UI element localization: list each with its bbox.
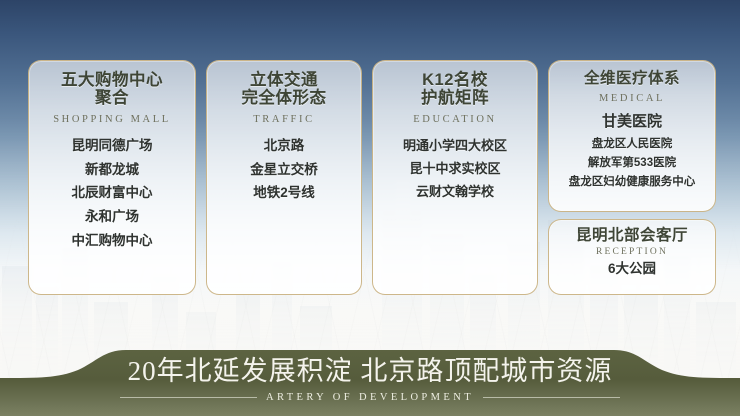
card-reception: 昆明北部会客厅 RECEPTION 6大公园 bbox=[548, 219, 716, 295]
list-item: 6大公园 bbox=[549, 261, 715, 278]
bottom-banner: 20年北延发展积淀 北京路顶配城市资源 ARTERY OF DEVELOPMEN… bbox=[0, 340, 740, 416]
list-item: 盘龙区妇幼健康服务中心 bbox=[549, 175, 715, 189]
list-item: 北京路 bbox=[207, 138, 361, 155]
card-heading: 立体交通 完全体形态 bbox=[207, 71, 361, 108]
card-heading-line1: 立体交通 bbox=[207, 71, 361, 89]
list-item: 北辰财富中心 bbox=[29, 185, 195, 202]
list-item: 昆十中求实校区 bbox=[373, 161, 537, 177]
list-item: 金星立交桥 bbox=[207, 162, 361, 179]
list-item: 中汇购物中心 bbox=[29, 233, 195, 250]
list-item: 昆明同德广场 bbox=[29, 138, 195, 155]
card-item-list: 北京路 金星立交桥 地铁2号线 bbox=[207, 138, 361, 202]
list-item: 新都龙城 bbox=[29, 162, 195, 179]
card-item-list: 甘美医院 盘龙区人民医院 解放军第533医院 盘龙区妇幼健康服务中心 bbox=[549, 113, 715, 189]
card-subtitle: EDUCATION bbox=[373, 114, 537, 125]
card-subtitle: SHOPPING MALL bbox=[29, 114, 195, 125]
banner-subtitle-row: ARTERY OF DEVELOPMENT bbox=[120, 392, 620, 403]
card-heading-line1: 全维医疗体系 bbox=[549, 70, 715, 87]
card-subtitle: TRAFFIC bbox=[207, 114, 361, 125]
rule-left bbox=[120, 397, 257, 398]
list-item: 盘龙区人民医院 bbox=[549, 137, 715, 151]
card-heading: 昆明北部会客厅 bbox=[549, 227, 715, 244]
banner-subtitle: ARTERY OF DEVELOPMENT bbox=[257, 392, 483, 403]
card-item-list: 昆明同德广场 新都龙城 北辰财富中心 永和广场 中汇购物中心 bbox=[29, 138, 195, 250]
card-heading-line1: K12名校 bbox=[373, 71, 537, 89]
card-medical: 全维医疗体系 MEDICAL 甘美医院 盘龙区人民医院 解放军第533医院 盘龙… bbox=[548, 60, 716, 212]
card-heading: 五大购物中心 聚合 bbox=[29, 71, 195, 108]
card-item-list: 6大公园 bbox=[549, 261, 715, 278]
banner-title: 20年北延发展积淀 北京路顶配城市资源 bbox=[128, 358, 613, 385]
card-traffic: 立体交通 完全体形态 TRAFFIC 北京路 金星立交桥 地铁2号线 bbox=[206, 60, 362, 295]
card-heading: 全维医疗体系 bbox=[549, 70, 715, 87]
list-item: 地铁2号线 bbox=[207, 185, 361, 202]
card-heading-line1: 五大购物中心 bbox=[29, 71, 195, 89]
card-subtitle: MEDICAL bbox=[549, 93, 715, 104]
list-item: 明通小学四大校区 bbox=[373, 138, 537, 154]
card-item-list: 明通小学四大校区 昆十中求实校区 云财文翰学校 bbox=[373, 138, 537, 200]
rule-right bbox=[483, 397, 620, 398]
card-heading-line2: 完全体形态 bbox=[207, 89, 361, 107]
list-item: 解放军第533医院 bbox=[549, 156, 715, 170]
card-subtitle: RECEPTION bbox=[549, 247, 715, 257]
card-heading-line1: 昆明北部会客厅 bbox=[549, 227, 715, 244]
card-shopping-mall: 五大购物中心 聚合 SHOPPING MALL 昆明同德广场 新都龙城 北辰财富… bbox=[28, 60, 196, 295]
list-item: 云财文翰学校 bbox=[373, 184, 537, 200]
card-heading: K12名校 护航矩阵 bbox=[373, 71, 537, 108]
list-item: 永和广场 bbox=[29, 209, 195, 226]
poster: 五大购物中心 聚合 SHOPPING MALL 昆明同德广场 新都龙城 北辰财富… bbox=[0, 0, 740, 416]
card-heading-line2: 护航矩阵 bbox=[373, 89, 537, 107]
card-education: K12名校 护航矩阵 EDUCATION 明通小学四大校区 昆十中求实校区 云财… bbox=[372, 60, 538, 295]
list-item-lead: 甘美医院 bbox=[549, 113, 715, 132]
card-heading-line2: 聚合 bbox=[29, 89, 195, 107]
